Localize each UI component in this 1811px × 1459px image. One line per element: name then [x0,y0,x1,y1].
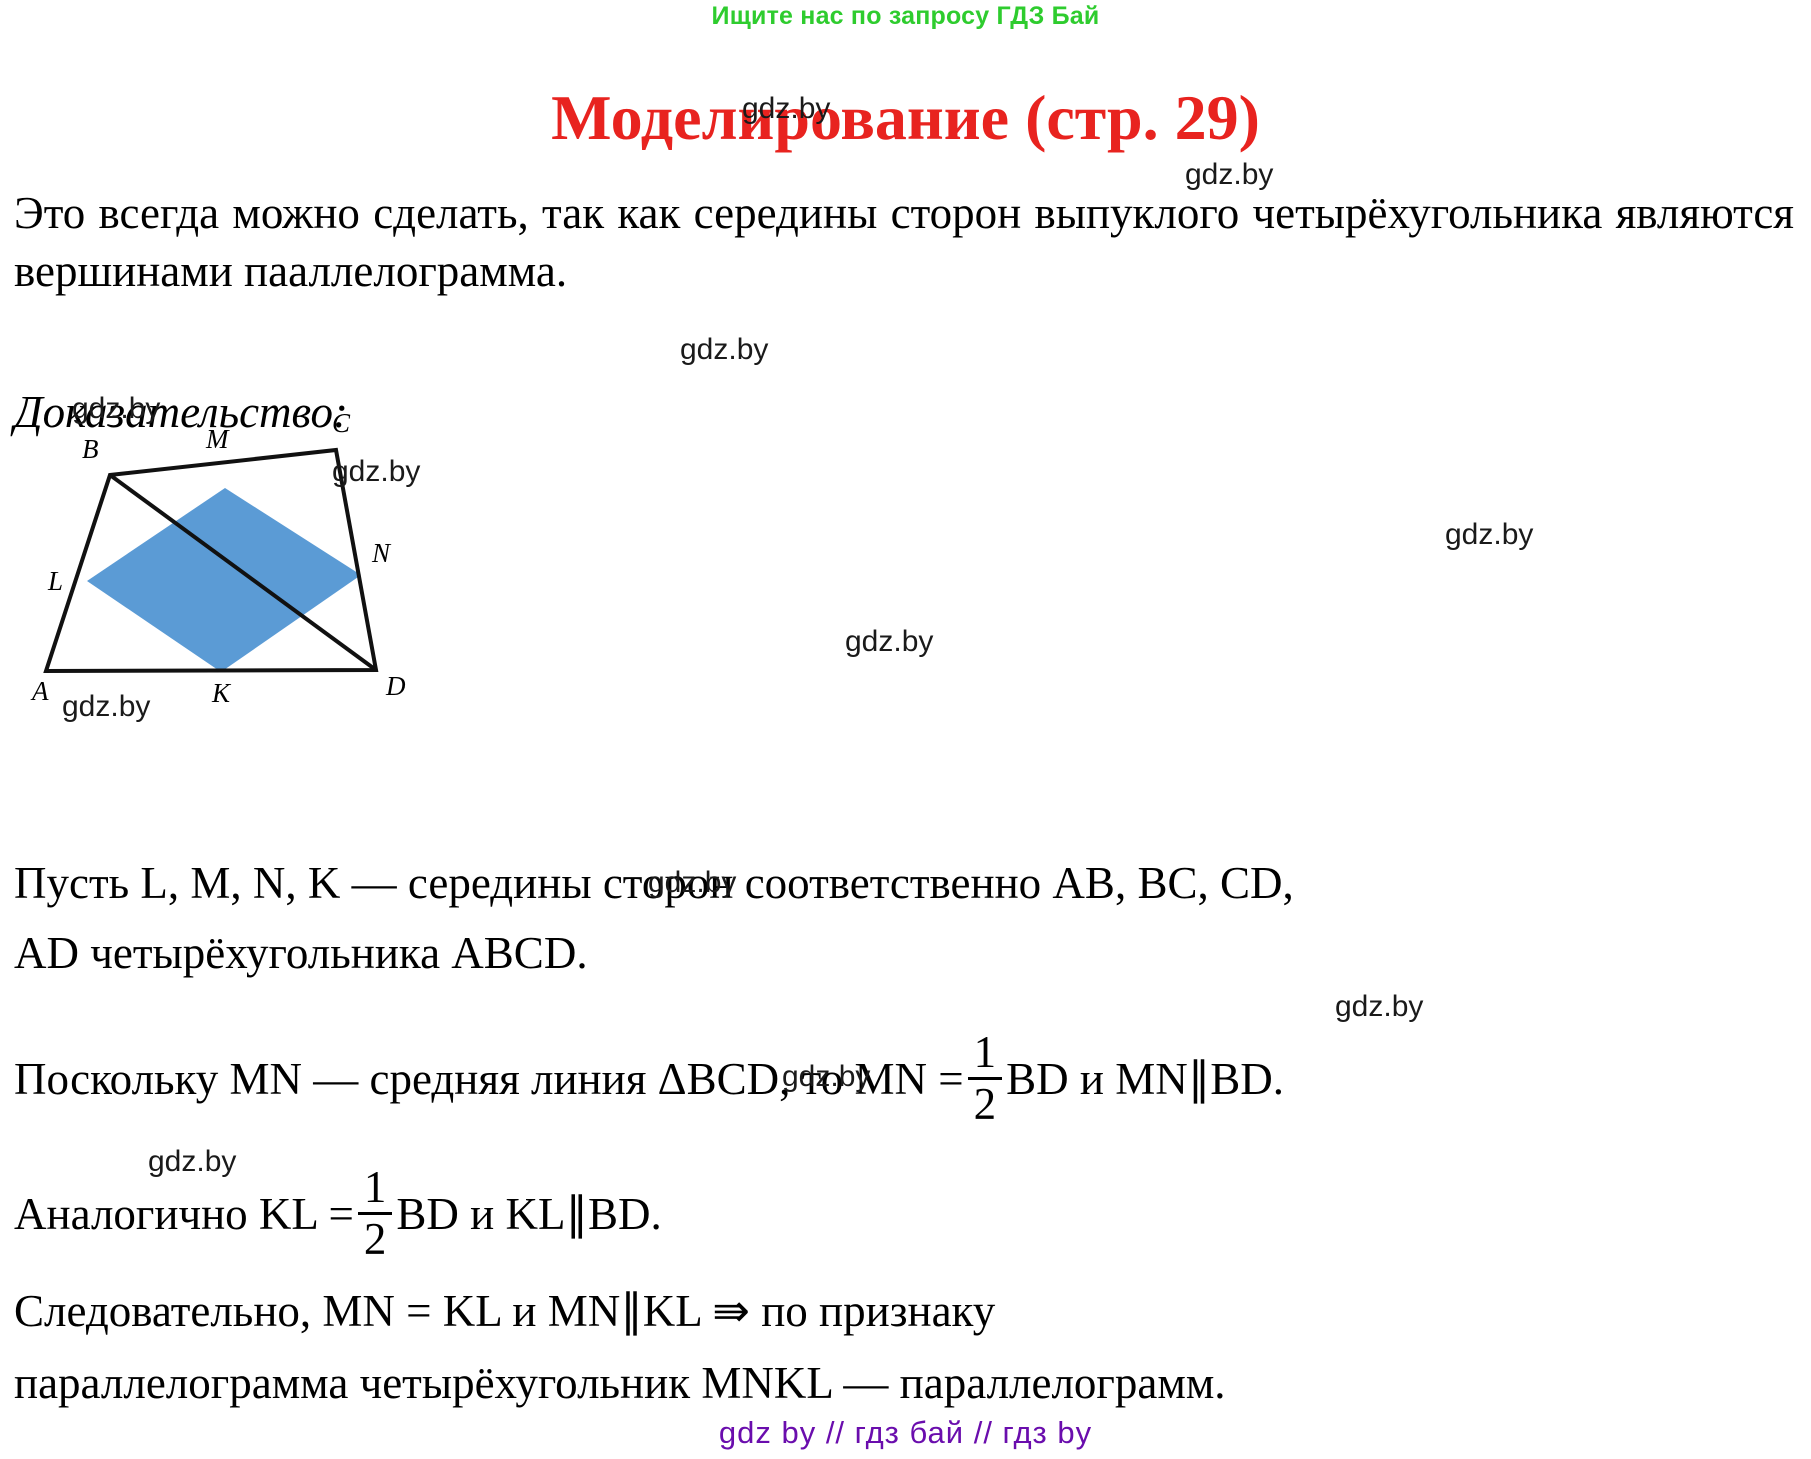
vertex-label-m: M [205,424,230,454]
watermark-gdz-by: gdz.by [1445,518,1533,552]
equation-mn-suffix: BD и MN∥BD. [1006,1052,1284,1105]
vertex-label-a: A [30,676,49,706]
equation-kl: Аналогично KL = 1 2 BD и KL∥BD. [14,1165,662,1262]
vertex-label-b: B [82,434,99,464]
vertex-label-n: N [371,538,392,568]
watermark-gdz-by: gdz.by [845,625,933,659]
equation-kl-prefix: Аналогично KL = [14,1188,354,1240]
watermark-gdz-by: gdz.by [1335,990,1423,1024]
vertex-label-c: C [332,408,351,438]
promo-banner: Ищите нас по запросу ГДЗ Бай [0,2,1811,31]
intro-paragraph: Это всегда можно сделать, так как середи… [14,185,1794,300]
vertex-label-d: D [385,671,406,701]
conclusion-line-2: параллелограмма четырёхугольник MNKL — п… [14,1355,1804,1413]
conclusion-line-1: Следовательно, MN = KL и MN∥KL ⇛ по приз… [14,1283,1804,1341]
vertex-label-l: L [47,566,63,596]
geometry-figure: A B C D K L M N [14,400,444,730]
fraction-numerator: 1 [968,1030,1003,1080]
statement-line-1: Пусть L, M, N, K — середины сторон соотв… [14,855,1804,913]
equation-kl-suffix: BD и KL∥BD. [396,1187,661,1240]
equation-mn: Поскольку MN — средняя линия ΔBCD, то MN… [14,1030,1284,1127]
statement-line-2: AD четырёхугольника ABCD. [14,925,1804,983]
page-title: Моделирование (стр. 29) [0,81,1811,155]
fraction-numerator: 1 [358,1165,393,1215]
geometry-figure-svg: A B C D K L M N [14,400,444,730]
fraction-one-half-2: 1 2 [358,1165,393,1262]
shaded-parallelogram-mnkl [87,488,361,672]
watermark-gdz-by: gdz.by [680,333,768,367]
fraction-denominator: 2 [358,1215,393,1262]
fraction-denominator: 2 [968,1080,1003,1127]
footer-links: gdz by // гдз бай // гдз by [0,1415,1811,1451]
fraction-one-half-1: 1 2 [968,1030,1003,1127]
vertex-label-k: K [211,678,232,708]
equation-mn-prefix: Поскольку MN — средняя линия ΔBCD, то MN… [14,1053,964,1105]
